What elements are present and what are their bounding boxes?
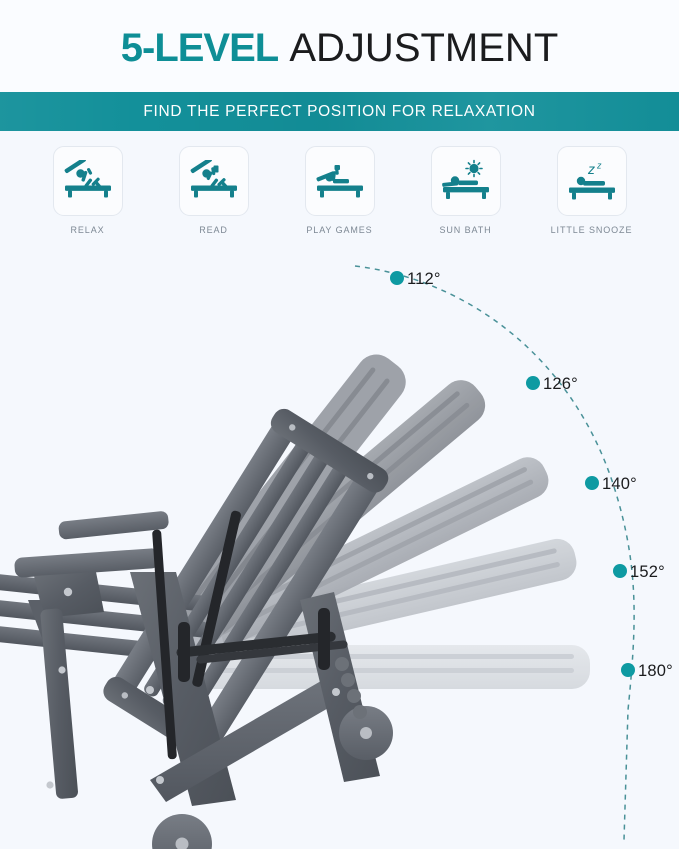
feature-label: READ <box>199 225 228 235</box>
person-reading-lounger-icon <box>186 160 242 202</box>
feature-label: SUN BATH <box>439 225 491 235</box>
feature-item-relax: RELAX <box>52 146 124 235</box>
lounge-chair-recline-diagram: 112° 126° 140° 152° 180° <box>0 240 679 849</box>
feature-icon-box: z z <box>557 146 627 216</box>
feature-icon-row: RELAX <box>0 146 679 235</box>
angle-label-140: 140° <box>602 475 637 493</box>
feature-icon-box <box>53 146 123 216</box>
feature-item-little-snooze: z z LITTLE SNOOZE <box>556 146 628 235</box>
page-title-accent: 5-LEVEL <box>121 26 278 70</box>
feature-item-sun-bath: SUN BATH <box>430 146 502 235</box>
angle-dot-140 <box>585 476 599 490</box>
angle-label-180: 180° <box>638 662 673 680</box>
feature-icon-box <box>305 146 375 216</box>
angle-dot-126 <box>526 376 540 390</box>
header-banner: 5-LEVEL ADJUSTMENT <box>0 0 679 92</box>
person-gaming-lounger-icon <box>312 160 368 202</box>
main-chair <box>0 405 393 849</box>
angle-label-112: 112° <box>407 270 441 288</box>
angle-dot-112 <box>390 271 404 285</box>
feature-label: RELAX <box>70 225 104 235</box>
feature-label: PLAY GAMES <box>306 225 372 235</box>
page-title-plain-spacer <box>278 26 289 70</box>
angle-dot-152 <box>613 564 627 578</box>
feature-icon-box <box>179 146 249 216</box>
page-title-plain: ADJUSTMENT <box>289 26 558 70</box>
page-title: 5-LEVEL ADJUSTMENT <box>0 26 679 71</box>
feature-item-read: READ <box>178 146 250 235</box>
subtitle-banner: FIND THE PERFECT POSITION FOR RELAXATION <box>0 92 679 131</box>
feature-label: LITTLE SNOOZE <box>551 225 633 235</box>
svg-text:z: z <box>587 161 595 177</box>
angle-label-152: 152° <box>630 563 665 581</box>
person-reclining-lounger-icon <box>60 160 116 202</box>
product-illustration: 112° 126° 140° 152° 180° <box>0 240 679 849</box>
feature-item-play-games: PLAY GAMES <box>304 146 376 235</box>
angle-dot-180 <box>621 663 635 677</box>
subtitle-text: FIND THE PERFECT POSITION FOR RELAXATION <box>143 103 535 121</box>
person-sleeping-zzz-icon: z z <box>564 159 620 203</box>
svg-text:z: z <box>596 161 602 171</box>
person-sunbathing-sun-icon <box>438 159 494 203</box>
chair-wheel-left <box>152 814 212 849</box>
feature-icon-box <box>431 146 501 216</box>
angle-label-126: 126° <box>543 375 578 393</box>
